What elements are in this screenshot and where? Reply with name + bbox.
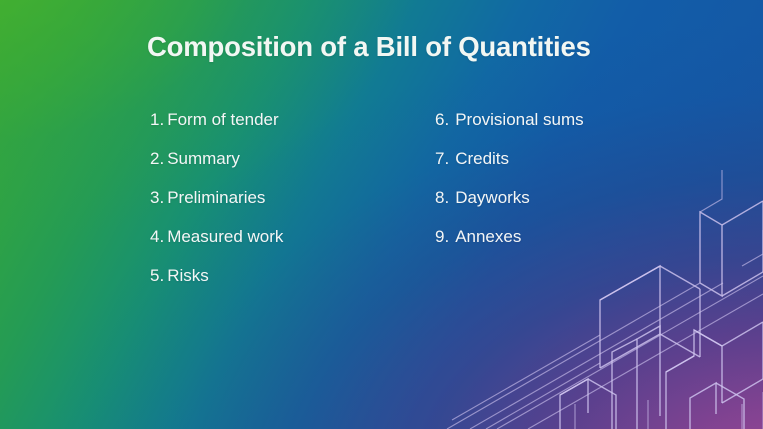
list-item-number: 6. [435,109,449,131]
list-item: 9. Annexes [435,226,584,265]
list-item-label: Annexes [455,226,521,248]
list-item: 7. Credits [435,148,584,187]
list-item-number: 2. [150,148,164,170]
list-item: 1. Form of tender [150,109,283,148]
list-item-number: 7. [435,148,449,170]
list-item-label: Summary [167,148,240,170]
list-item-label: Measured work [167,226,283,248]
list-item-label: Preliminaries [167,187,265,209]
list-item-label: Provisional sums [455,109,584,131]
list-item: 5. Risks [150,265,283,304]
slide-canvas: Composition of a Bill of Quantities 1. F… [0,0,763,429]
list-column-left: 1. Form of tender 2. Summary 3. Prelimin… [150,109,283,304]
list-item-number: 9. [435,226,449,248]
list-item-label: Credits [455,148,509,170]
list-item-number: 3. [150,187,164,209]
list-item-label: Form of tender [167,109,279,131]
page-title: Composition of a Bill of Quantities [147,31,591,63]
list-item-label: Dayworks [455,187,530,209]
slide-content: Composition of a Bill of Quantities 1. F… [0,0,763,429]
list-item-number: 1. [150,109,164,131]
list-item-number: 5. [150,265,164,287]
list-item: 8. Dayworks [435,187,584,226]
list-item: 6. Provisional sums [435,109,584,148]
list-item-number: 8. [435,187,449,209]
list-item: 2. Summary [150,148,283,187]
list-item-label: Risks [167,265,209,287]
list-item: 3. Preliminaries [150,187,283,226]
list-item: 4. Measured work [150,226,283,265]
list-column-right: 6. Provisional sums 7. Credits 8. Daywor… [435,109,584,265]
list-item-number: 4. [150,226,164,248]
